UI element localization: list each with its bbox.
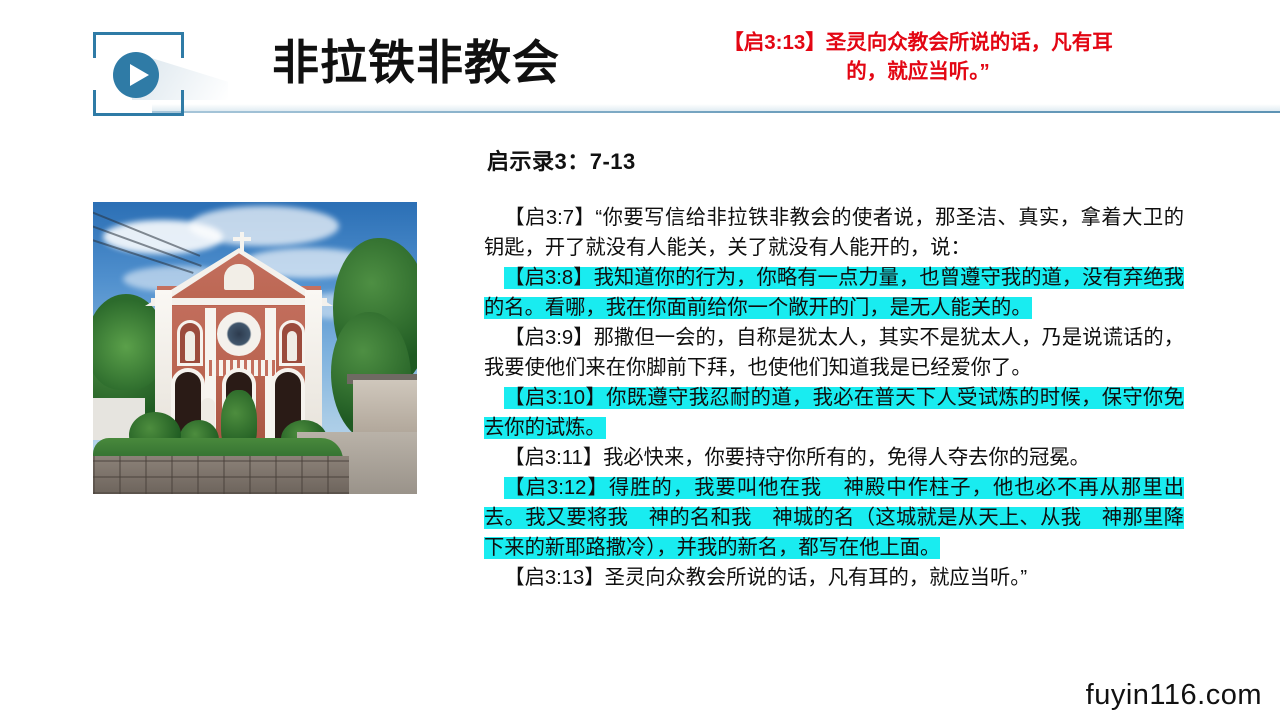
scripture-verse: 【启3:9】那撒但一会的，自称是犹太人，其实不是犹太人，乃是说谎话的，我要使他们… <box>484 323 1184 383</box>
frame-right-bottom-bar <box>181 90 184 116</box>
frame-bottom-bar <box>93 113 184 116</box>
verse-highlighted-text: 【启3:12】得胜的，我要叫他在我 神殿中作柱子，他也必不再从那里出去。我又要将… <box>484 477 1184 559</box>
scripture-verse: 【启3:10】你既遵守我忍耐的道，我必在普天下人受试炼的时候，保守你免去你的试炼… <box>484 383 1184 443</box>
scripture-text-block: 【启3:7】“你要写信给非拉铁非教会的使者说，那圣洁、真实，拿着大卫的钥匙，开了… <box>484 203 1184 593</box>
site-watermark: fuyin116.com <box>1086 679 1262 712</box>
page-title: 非拉铁非教会 <box>272 38 560 87</box>
church-roofline <box>151 298 327 305</box>
verse-text: 【启3:13】圣灵向众教会所说的话，凡有耳的，就应当听。” <box>504 567 1027 589</box>
frame-left-top-bar <box>93 32 96 58</box>
frame-top-bar <box>93 32 184 35</box>
verse-text: 【启3:11】我必快来，你要持守你所有的，免得人夺去你的冠冕。 <box>504 447 1090 469</box>
church-photo <box>93 202 417 494</box>
verse-highlighted-text: 【启3:10】你既遵守我忍耐的道，我必在普天下人受试炼的时候，保守你免去你的试炼… <box>484 387 1184 439</box>
frame-right-top-bar <box>181 32 184 58</box>
church-top-niche <box>224 264 254 290</box>
scripture-verse: 【启3:11】我必快来，你要持守你所有的，免得人夺去你的冠冕。 <box>484 443 1184 473</box>
passage-reference: 启示录3：7-13 <box>487 144 636 176</box>
church-statue-niche <box>279 320 305 366</box>
play-triangle-icon <box>130 64 149 86</box>
church-statue <box>287 331 297 361</box>
verse-highlighted-text: 【启3:8】我知道你的行为，你略有一点力量，也曾遵守我的道，没有弃绝我的名。看哪… <box>484 267 1184 319</box>
scripture-verse: 【启3:12】得胜的，我要叫他在我 神殿中作柱子，他也必不再从那里出去。我又要将… <box>484 473 1184 563</box>
photo-cloud <box>189 206 339 246</box>
scripture-verse: 【启3:8】我知道你的行为，你略有一点力量，也曾遵守我的道，没有弃绝我的名。看哪… <box>484 263 1184 323</box>
header-divider <box>152 111 1280 113</box>
scripture-verse: 【启3:7】“你要写信给非拉铁非教会的使者说，那圣洁、真实，拿着大卫的钥匙，开了… <box>484 203 1184 263</box>
church-cross-icon <box>240 232 244 254</box>
play-button-icon[interactable] <box>113 52 159 98</box>
verse-text: 【启3:9】那撒但一会的，自称是犹太人，其实不是犹太人，乃是说谎话的，我要使他们… <box>484 327 1184 379</box>
photo-stone-wall <box>93 456 349 494</box>
church-statue <box>185 331 195 361</box>
church-rose-window <box>217 312 261 356</box>
church-statue-niche <box>177 320 203 366</box>
slide-canvas: 非拉铁非教会 【启3:13】圣灵向众教会所说的话，凡有耳的，就应当听。” 启示录… <box>0 0 1280 720</box>
memory-verse-text: 【启3:13】圣灵向众教会所说的话，凡有耳的，就应当听。” <box>718 28 1118 86</box>
frame-left-bottom-bar <box>93 90 96 116</box>
scripture-verse: 【启3:13】圣灵向众教会所说的话，凡有耳的，就应当听。” <box>484 563 1184 593</box>
verse-text: 【启3:7】“你要写信给非拉铁非教会的使者说，那圣洁、真实，拿着大卫的钥匙，开了… <box>484 207 1184 259</box>
